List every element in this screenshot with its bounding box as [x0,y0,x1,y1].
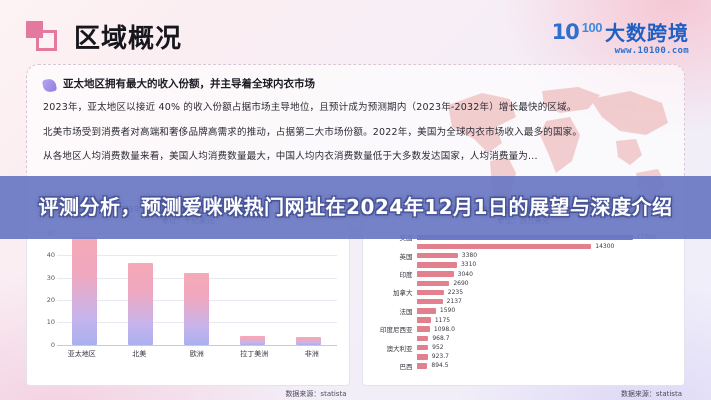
brand-sup: 100 [582,21,602,34]
bar-value-label: 1098.0 [434,326,455,333]
xtick-label: 亚太地区 [60,349,103,359]
bar-track: 923.7 [417,353,675,360]
bar-track: 968.7 [417,335,675,342]
brand-url: www.10100.com [552,47,689,56]
gridline [57,345,337,346]
bar [240,336,265,345]
chart-row: 14300 [373,242,675,251]
chart-left-source: 数据来源：statista [285,389,346,399]
chart-row: 澳大利亚952 [373,343,675,352]
chart-row: 法国1590 [373,306,675,315]
country-label: 澳大利亚 [373,343,417,353]
xtick-label: 北美 [118,349,161,359]
chart-row: 巴西894.5 [373,361,675,370]
bar-slot [232,233,274,345]
country-label: 巴西 [373,361,417,371]
bar [417,354,428,360]
bar [417,262,457,268]
bar-slot [120,233,162,345]
bar [417,317,431,323]
chart-left-xlabels: 亚太地区北美欧洲拉丁美洲非洲 [53,349,341,359]
bar [184,273,209,345]
xtick-label: 非洲 [290,349,333,359]
country-label: 英国 [373,251,417,261]
xtick-label: 拉丁美洲 [233,349,276,359]
bar-slot [64,233,106,345]
card-paragraph-2: 北美市场受到消费者对高端和奢侈品牌高需求的推动，占据第二大市场份额。2022年，… [43,124,668,142]
chart-row: 2137 [373,297,675,306]
chart-row: 英国3380 [373,251,675,260]
chart-left-plot: 01020304050 [39,233,337,345]
bar-track: 1590 [417,307,675,314]
bar-value-label: 3380 [462,252,477,259]
bar-value-label: 1175 [435,317,450,324]
bar-slot [288,233,330,345]
bar [72,237,97,345]
bar-value-label: 3040 [458,271,473,278]
bar [128,263,153,345]
chart-row: 印度3040 [373,270,675,279]
overlapping-squares-icon [26,21,60,53]
chart-row: 3310 [373,260,675,269]
overlay-banner-text: 评测分析，预测爱咪咪热门网址在2024年12月1日的展望与深度介绍 [36,193,676,222]
bar-value-label: 2137 [447,298,462,305]
brand-logo: 10 100 大数跨境 www.10100.com [552,22,689,56]
chart-row: 1175 [373,315,675,324]
card-paragraph-3: 从各地区人均消费数量来看，美国人均消费数量最大，中国人均内衣消费数量低于大多数发… [43,148,668,166]
bar [417,308,436,314]
chart-row: 加拿大2235 [373,288,675,297]
card-lead-text: 亚太地区拥有最大的收入份额，并主导着全球内衣市场 [63,77,315,91]
chart-row: 2690 [373,279,675,288]
bar [417,299,443,305]
overlay-banner: 评测分析，预测爱咪咪热门网址在2024年12月1日的展望与深度介绍 [0,176,711,239]
bar-value-label: 1590 [440,307,455,314]
chart-left-bars [57,233,337,345]
bar-track: 3040 [417,271,675,278]
country-label: 印度尼西亚 [373,324,417,334]
bar [296,337,321,345]
bar-value-label: 923.7 [432,353,449,360]
bar-track: 894.5 [417,362,675,369]
page-root: 区域概况 10 100 大数跨境 www.10100.com 亚太地区拥有最大的… [0,0,711,400]
ytick-label: 30 [39,274,55,282]
page-header: 区域概况 [26,18,182,55]
country-label: 印度 [373,269,417,279]
bar-track: 1098.0 [417,326,675,333]
bar [417,244,592,250]
bar-value-label: 968.7 [432,335,449,342]
page-title: 区域概况 [74,18,182,55]
chart-right-rows: 美国1770014300英国33803310印度30402690加拿大22352… [373,233,675,371]
bar-track: 2690 [417,280,675,287]
ytick-label: 10 [39,318,55,326]
bar-track: 2137 [417,298,675,305]
brand-name: 大数跨境 [605,23,689,43]
chart-row: 印度尼西亚1098.0 [373,325,675,334]
ytick-label: 20 [39,296,55,304]
chart-row: 968.7 [373,334,675,343]
bar-track: 3310 [417,261,675,268]
bookmark-icon [42,78,57,93]
bar-value-label: 14300 [595,243,614,250]
bar [417,253,458,259]
bar [417,281,450,287]
card-lead: 亚太地区拥有最大的收入份额，并主导着全球内衣市场 [43,77,668,92]
bar-track: 3380 [417,252,675,259]
bar [417,336,429,342]
country-label: 法国 [373,306,417,316]
bar-track: 2235 [417,289,675,296]
bar-value-label: 2690 [453,280,468,287]
ytick-label: 40 [39,251,55,259]
card-paragraph-1: 2023年，亚太地区以接近 40% 的收入份额占据市场主导地位，且预计成为预测期… [43,99,668,117]
bar-slot [176,233,218,345]
brand-glyph-icon: 10 [552,22,579,43]
bar [417,271,454,277]
bar-track: 952 [417,344,675,351]
chart-right-source: 数据来源：statista [621,389,682,399]
bar [417,345,429,351]
xtick-label: 欧洲 [175,349,218,359]
bar-track: 1175 [417,317,675,324]
bar [417,326,430,332]
country-label: 加拿大 [373,287,417,297]
bar-track: 14300 [417,243,675,250]
bar-value-label: 894.5 [431,362,448,369]
bar [417,363,428,369]
bar-value-label: 952 [432,344,443,351]
bar-value-label: 2235 [448,289,463,296]
ytick-label: 0 [39,341,55,349]
bar [417,290,444,296]
chart-row: 923.7 [373,352,675,361]
bar-value-label: 3310 [461,261,476,268]
